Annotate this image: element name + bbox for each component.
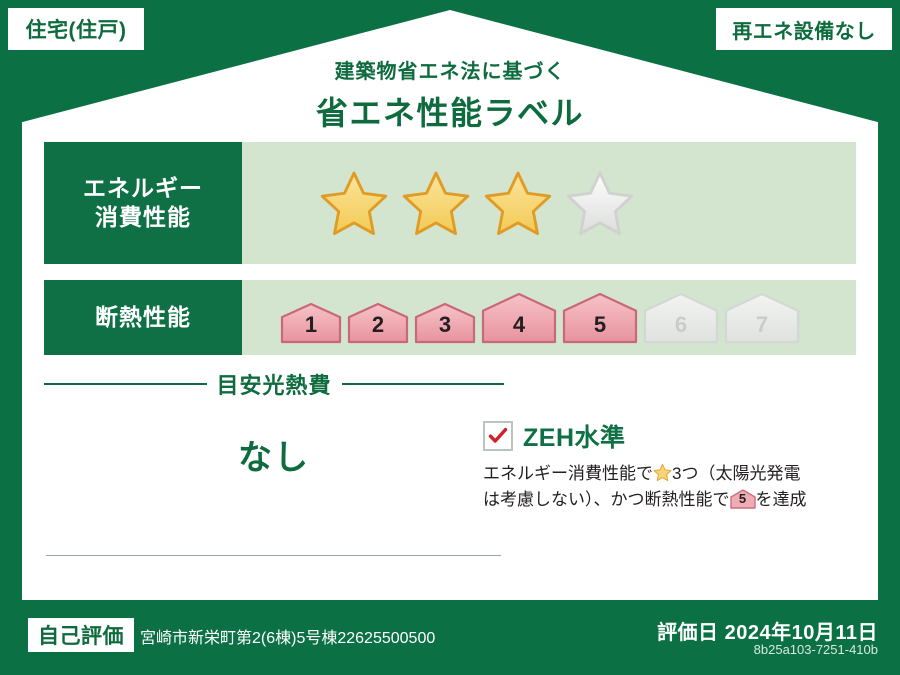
inline-badge-value: 5 — [730, 489, 756, 509]
evaluation-date: 評価日 2024年10月11日 — [657, 616, 878, 645]
utility-cost-heading-text: 目安光熱費 — [217, 368, 332, 400]
energy-label-line1: エネルギー — [83, 174, 203, 203]
insulation-badge-value: 2 — [347, 312, 409, 338]
insulation-badge-4: 4 — [481, 292, 557, 344]
insulation-badge-value: 5 — [562, 312, 638, 338]
zeh-description: エネルギー消費性能で 3つ（太陽光発電 は考慮しない）、かつ断熱性能で 5を達成 — [483, 461, 863, 514]
title-block: 建築物省エネ法に基づく 省エネ性能ラベル — [0, 55, 900, 134]
insulation-rating-area: 1234567 — [242, 280, 856, 355]
utility-cost-underline — [46, 555, 501, 556]
zeh-desc-part2: は考慮しない）、かつ断熱性能で — [483, 490, 730, 509]
insulation-badge-value: 4 — [481, 312, 557, 338]
energy-rating-area — [242, 142, 856, 264]
label-id: 8b25a103-7251-410b — [754, 642, 878, 657]
insulation-badge-value: 7 — [724, 312, 800, 338]
star-icon — [653, 463, 672, 482]
insulation-badge-6: 6 — [643, 292, 719, 344]
star-filled-icon — [402, 169, 470, 237]
utility-cost-value: なし — [44, 430, 504, 479]
zeh-header: ZEH水準 — [483, 418, 863, 454]
star-filled-icon — [320, 169, 388, 237]
energy-performance-row: エネルギー 消費性能 — [44, 142, 856, 264]
zeh-desc-star-count: 3つ（太陽光発電 — [672, 464, 800, 483]
energy-performance-label: エネルギー 消費性能 — [44, 142, 242, 264]
heading-rule-right — [342, 383, 505, 385]
insulation-badge-value: 1 — [280, 312, 342, 338]
zeh-title: ZEH水準 — [523, 418, 626, 454]
insulation-badge-3: 3 — [414, 302, 476, 344]
dwelling-type-badge: 住宅(住戸) — [8, 8, 144, 50]
insulation-badge-2: 2 — [347, 302, 409, 344]
energy-label-line2: 消費性能 — [95, 203, 191, 232]
assessment-type-badge: 自己評価 — [28, 618, 134, 652]
utility-cost-heading: 目安光熱費 — [44, 368, 504, 400]
star-empty-icon — [566, 169, 634, 237]
insulation-badge-5: 5 — [562, 292, 638, 344]
insulation-performance-label: 断熱性能 — [44, 280, 242, 355]
renewable-equipment-badge: 再エネ設備なし — [716, 8, 892, 50]
insulation-badge-7: 7 — [724, 292, 800, 344]
label-subtitle: 建築物省エネ法に基づく — [0, 55, 900, 84]
insulation-badge-scale: 1234567 — [242, 292, 800, 344]
zeh-desc-part1: エネルギー消費性能で — [483, 464, 653, 483]
insulation-grade-inline-badge: 5 — [730, 489, 756, 509]
property-address: 宮崎市新栄町第2(6棟)5号棟22625500500 — [140, 624, 435, 648]
insulation-badge-value: 6 — [643, 312, 719, 338]
star-rating — [242, 169, 634, 237]
check-icon — [488, 426, 508, 446]
insulation-badge-1: 1 — [280, 302, 342, 344]
label-footer: 自己評価 宮崎市新栄町第2(6棟)5号棟22625500500 評価日 2024… — [0, 600, 900, 675]
energy-performance-label: 住宅(住戸) 再エネ設備なし 建築物省エネ法に基づく 省エネ性能ラベル エネルギ… — [0, 0, 900, 675]
zeh-standard-panel: ZEH水準 エネルギー消費性能で 3つ（太陽光発電 は考慮しない）、かつ断熱性能… — [483, 418, 863, 514]
page-title: 省エネ性能ラベル — [0, 88, 900, 134]
insulation-performance-row: 断熱性能 1234567 — [44, 280, 856, 355]
heading-rule-left — [44, 383, 207, 385]
zeh-desc-part3: を達成 — [756, 490, 807, 509]
insulation-badge-value: 3 — [414, 312, 476, 338]
star-filled-icon — [484, 169, 552, 237]
zeh-checkbox[interactable] — [483, 421, 513, 451]
